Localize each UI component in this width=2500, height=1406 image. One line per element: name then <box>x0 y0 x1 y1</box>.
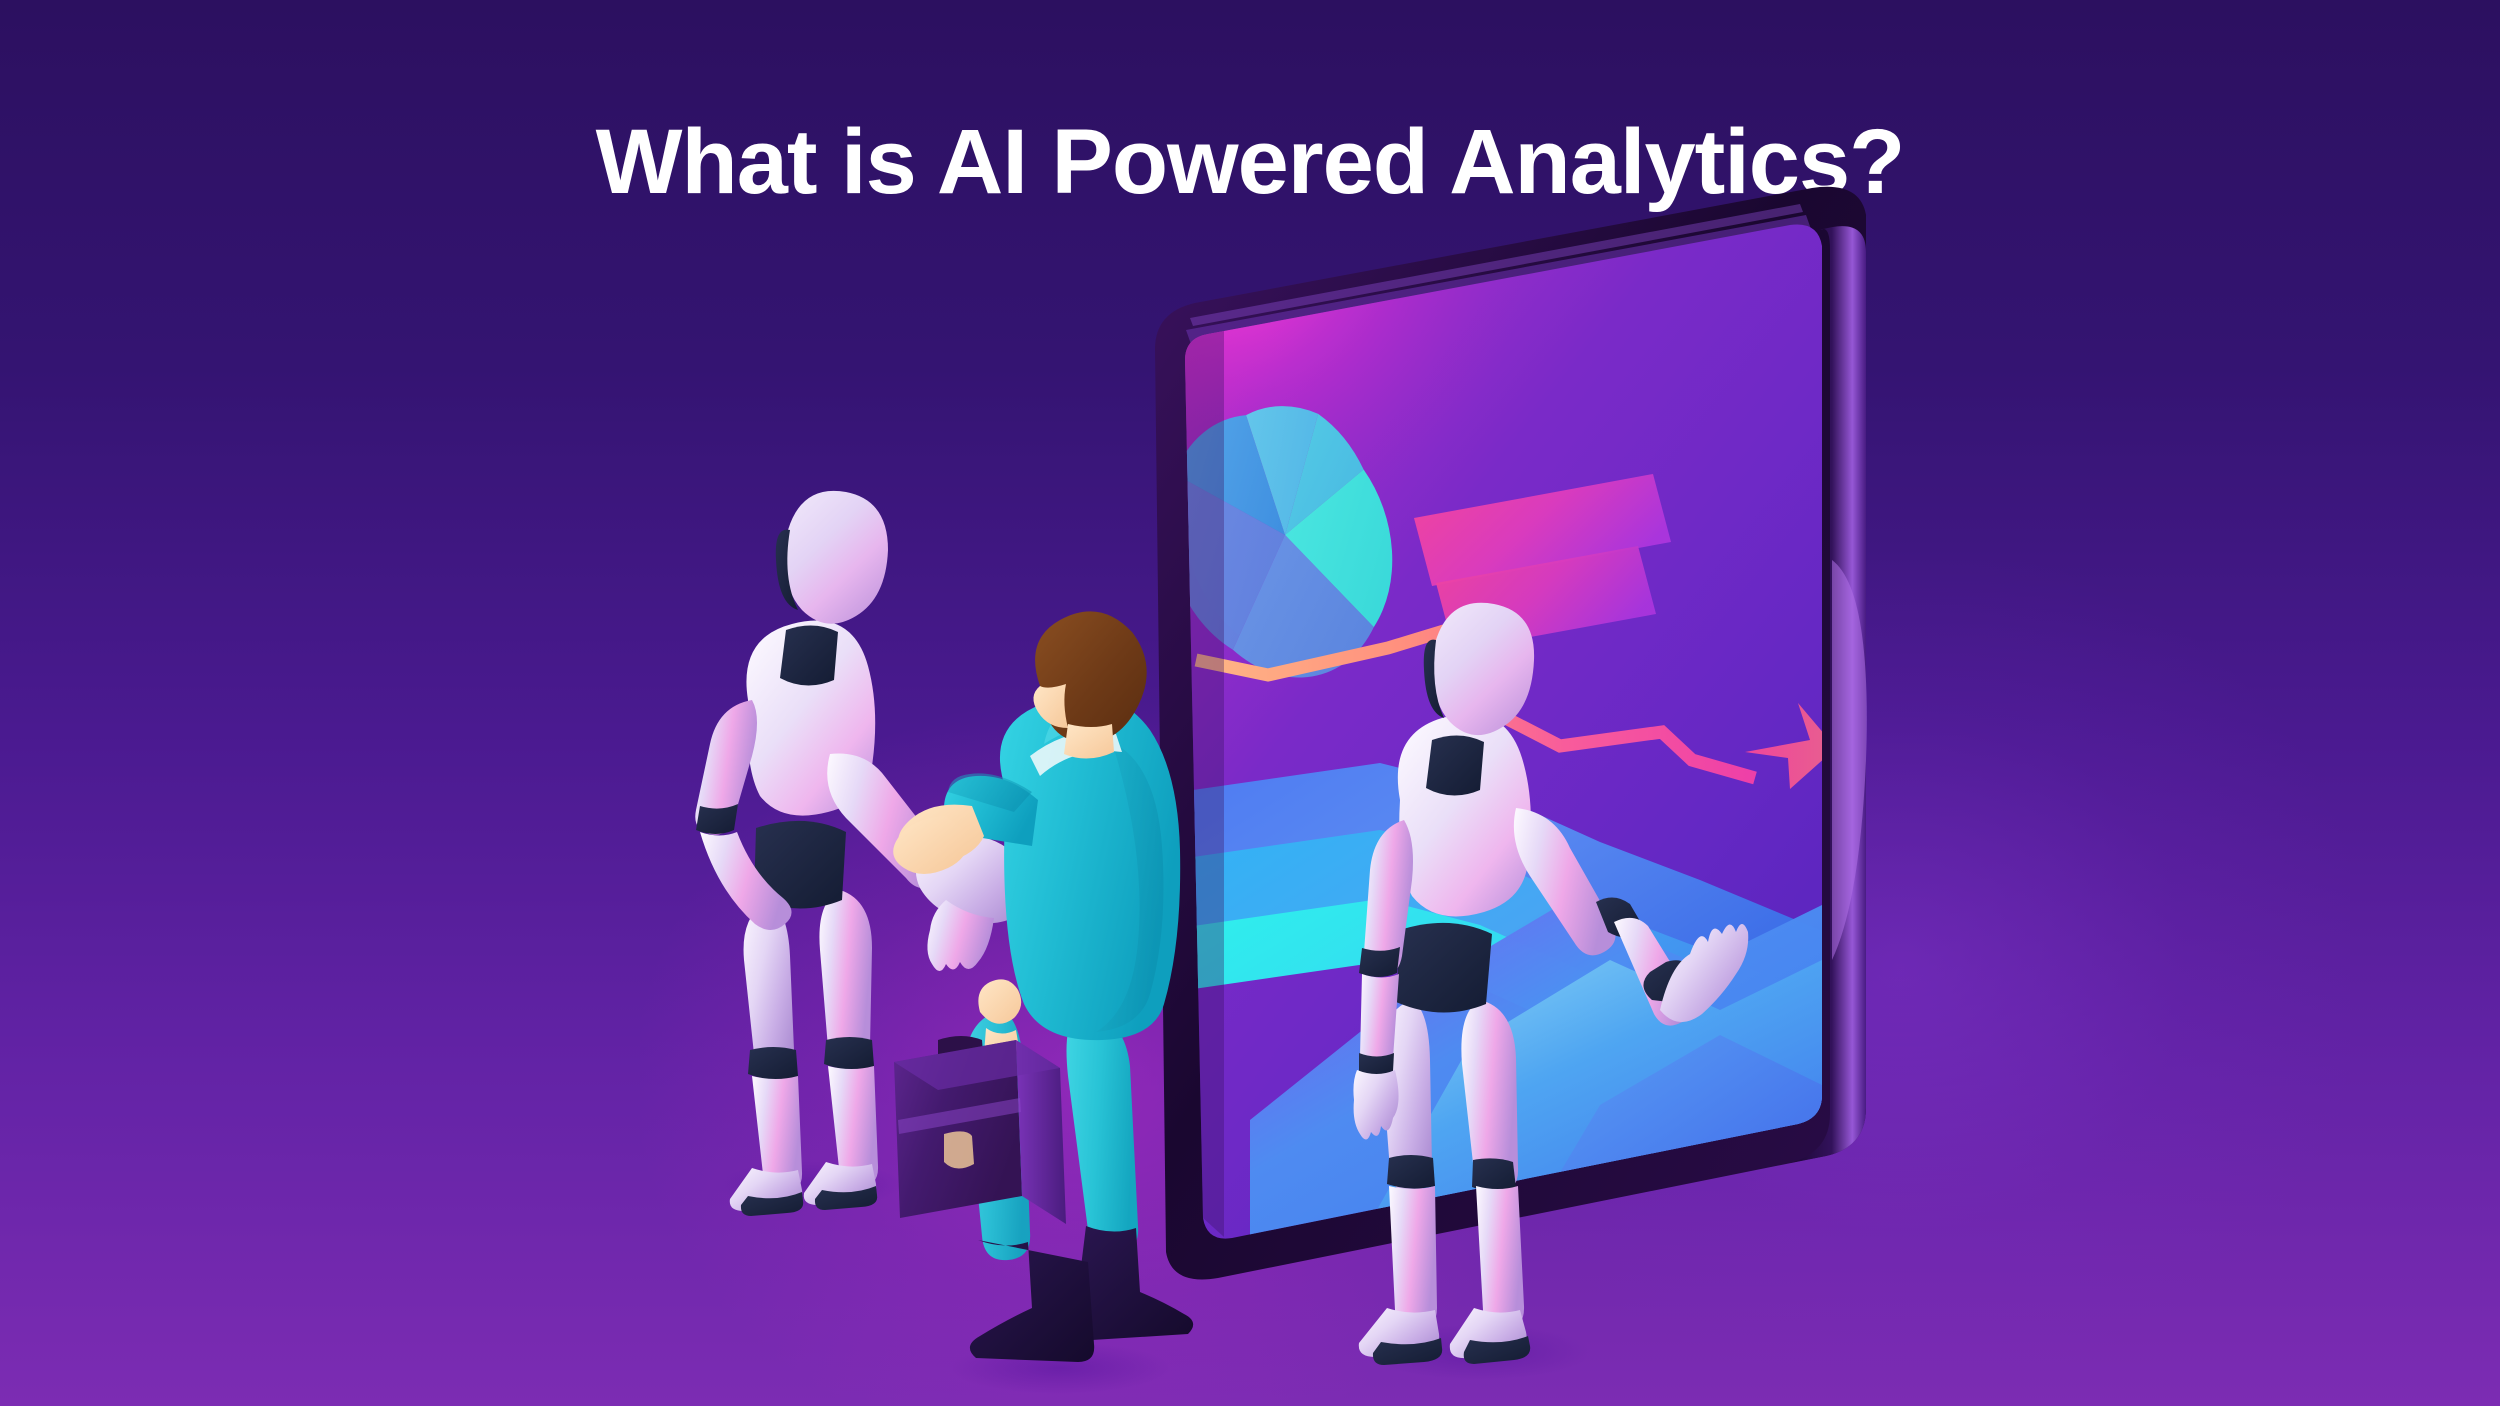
ai-analytics-illustration <box>0 0 2500 1406</box>
businessman <box>893 611 1193 1394</box>
illustration-canvas: What is AI Powered Analytics? <box>0 0 2500 1406</box>
briefcase <box>894 1036 1066 1224</box>
